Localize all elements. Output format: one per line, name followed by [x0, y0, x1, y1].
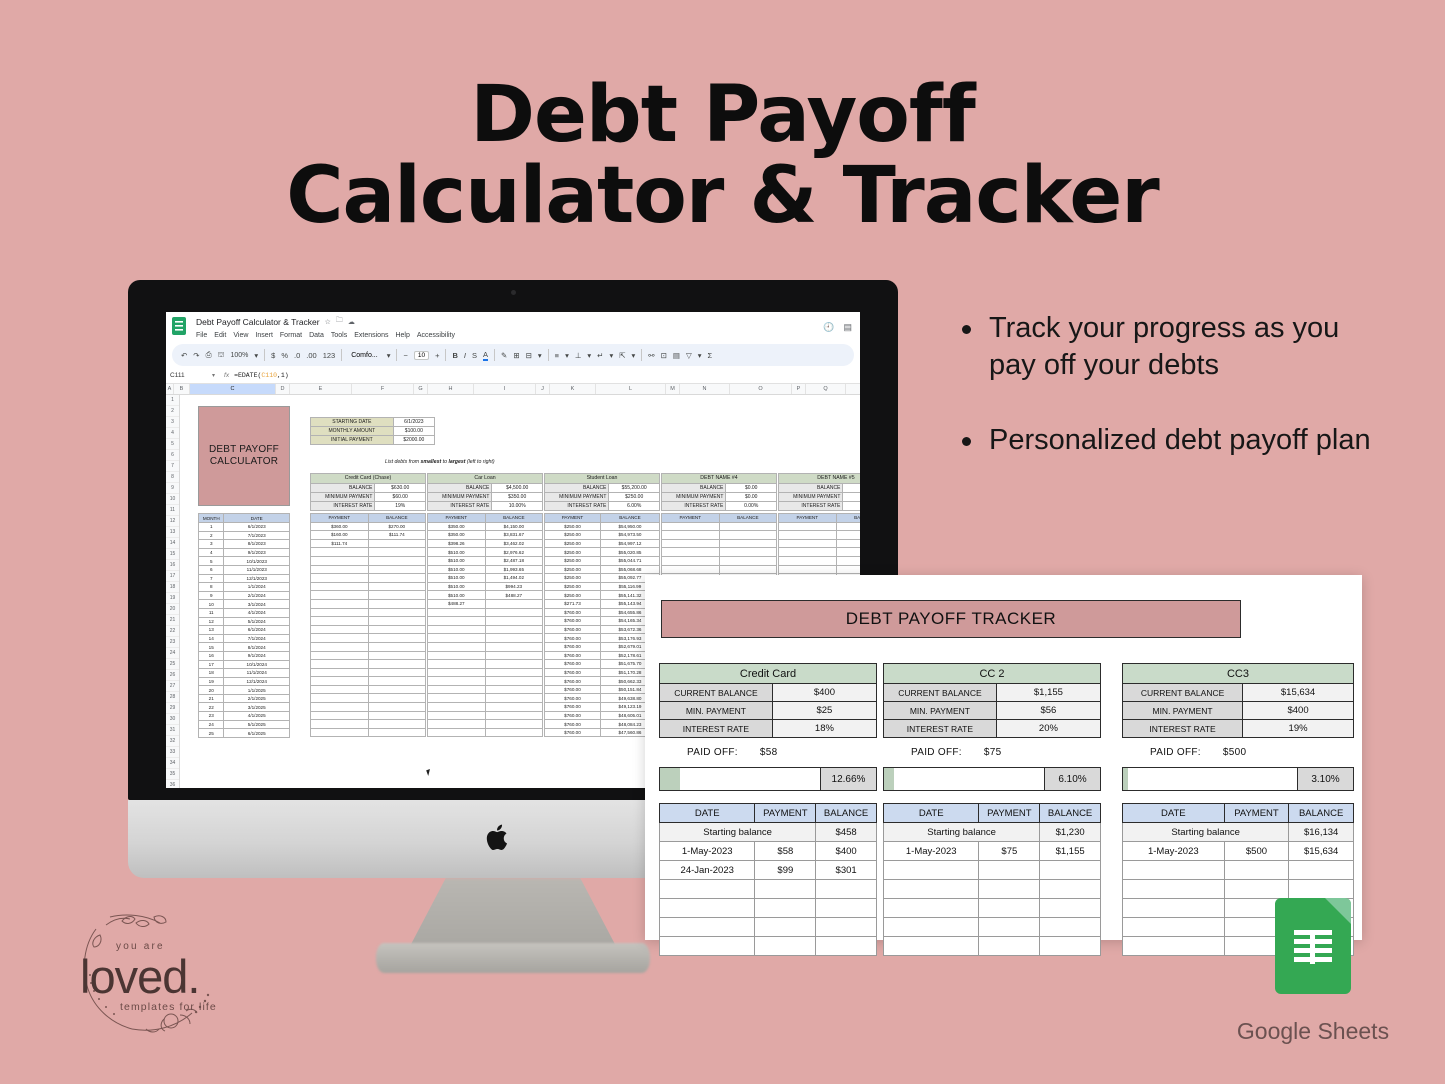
zoom-level[interactable]: 100% [231, 352, 249, 359]
month-number: 15 [199, 643, 224, 652]
comment-icon[interactable]: ▤ [843, 322, 852, 333]
row-header[interactable]: 11 [166, 505, 179, 516]
starting-balance-value[interactable]: $16,134 [1289, 823, 1354, 842]
history-date[interactable] [884, 861, 979, 880]
column-header-a[interactable]: A [166, 384, 174, 394]
column-header-i[interactable]: I [474, 384, 536, 394]
row-header[interactable]: 9 [166, 483, 179, 494]
history-payment[interactable] [1224, 861, 1289, 880]
chevron-down-icon[interactable]: ▾ [538, 351, 542, 360]
chevron-down-icon[interactable]: ▾ [698, 351, 702, 360]
debt-name[interactable]: Student Loan [545, 474, 660, 484]
payment-value: $250.00 [545, 582, 601, 591]
history-icon[interactable]: 🕘 [823, 322, 834, 333]
chevron-down-icon[interactable]: ▾ [632, 351, 636, 360]
history-balance[interactable] [816, 880, 877, 899]
debt-stat-value[interactable]: $4,500.00 [492, 483, 543, 492]
debt-name[interactable]: Credit Card (Chase) [311, 474, 426, 484]
percent-format-icon[interactable]: % [281, 351, 288, 360]
payment-row: $250.00$55,092.77 [545, 574, 660, 583]
debt-stat-value[interactable]: $60.00 [375, 492, 426, 501]
row-header[interactable]: 3 [166, 417, 179, 428]
debt-payment-table: PAYMENTBALANCE$360.00$270.00$160.00$111.… [310, 513, 426, 737]
toolbar-divider [548, 349, 549, 361]
column-header-r[interactable]: R [846, 384, 860, 394]
menu-extensions[interactable]: Extensions [354, 332, 388, 339]
star-icon[interactable]: ☆ [325, 318, 331, 326]
payment-row [428, 720, 543, 729]
row-header[interactable]: 13 [166, 527, 179, 538]
row-header[interactable]: 2 [166, 406, 179, 417]
row-header[interactable]: 26 [166, 670, 179, 681]
row-header[interactable]: 15 [166, 549, 179, 560]
row-header[interactable]: 8 [166, 472, 179, 483]
bullet-item: Personalized debt payoff plan [962, 422, 1382, 459]
paint-format-icon[interactable]: ⛫ [218, 350, 225, 360]
month-number: 23 [199, 712, 224, 721]
fill-color-icon[interactable]: ✎ [501, 351, 507, 360]
payment-row [428, 694, 543, 703]
payment-row: $250.00$55,141.32 [545, 591, 660, 600]
column-header-j[interactable]: J [536, 384, 550, 394]
balance-value [368, 668, 425, 677]
payment-value: $760.00 [545, 720, 601, 729]
payment-value: $760.00 [545, 617, 601, 626]
bold-icon[interactable]: B [452, 351, 457, 360]
debt-stat-value[interactable]: 19% [375, 501, 426, 510]
cloud-icon[interactable]: ☁ [348, 318, 355, 326]
history-payment[interactable] [979, 918, 1040, 937]
payment-value [662, 556, 720, 565]
history-date[interactable]: 1-May-2023 [884, 842, 979, 861]
debt-stat-row: INTEREST RATE0.00% [662, 501, 777, 510]
menu-format[interactable]: Format [280, 332, 302, 339]
payment-row [311, 591, 426, 600]
month-date: 9/1/2023 [224, 548, 290, 557]
history-date[interactable]: 1-May-2023 [1123, 842, 1225, 861]
row-header[interactable]: 19 [166, 593, 179, 604]
row-header[interactable]: 27 [166, 681, 179, 692]
history-date[interactable] [1123, 861, 1225, 880]
row-header[interactable]: 7 [166, 461, 179, 472]
row-header[interactable]: 32 [166, 736, 179, 747]
history-date[interactable] [1123, 918, 1225, 937]
month-number: 4 [199, 548, 224, 557]
column-header-k[interactable]: K [550, 384, 596, 394]
debt-name-row: Credit Card (Chase) [311, 474, 426, 484]
debt-stat-value[interactable]: 0.00% [726, 501, 777, 510]
payment-value: $250.00 [545, 574, 601, 583]
payment-row [311, 556, 426, 565]
row-header[interactable]: 25 [166, 659, 179, 670]
debt-stat-value[interactable]: $55,200.00 [609, 483, 660, 492]
menu-data[interactable]: Data [309, 332, 324, 339]
balance-value [368, 677, 425, 686]
formula-input[interactable]: =EDATE(C110,1) [234, 372, 289, 379]
payment-value: $760.00 [545, 608, 601, 617]
column-header-q[interactable]: Q [806, 384, 846, 394]
document-title[interactable]: Debt Payoff Calculator & Tracker [196, 317, 320, 327]
tracker-card-name-row: Credit Card [660, 664, 877, 684]
balance-value [368, 711, 425, 720]
chevron-down-icon[interactable]: ▾ [387, 351, 391, 360]
row-header[interactable]: 5 [166, 439, 179, 450]
merge-cells-icon[interactable]: ⊟ [526, 351, 532, 360]
settings-table: STARTING DATE6/1/2023MONTHLY AMOUNT$100.… [310, 417, 435, 445]
settings-value[interactable]: 6/1/2023 [393, 418, 434, 427]
history-balance[interactable] [1040, 937, 1101, 956]
payment-row [311, 685, 426, 694]
payment-table-header-cell: BALANCE [836, 514, 860, 523]
balance-value: $2,487.18 [485, 556, 542, 565]
history-date[interactable] [660, 937, 755, 956]
month-number: 11 [199, 608, 224, 617]
row-header[interactable]: 12 [166, 516, 179, 527]
payment-table-header-cell: PAYMENT [428, 514, 486, 523]
debt-stat-value[interactable] [843, 492, 860, 501]
payment-row [428, 711, 543, 720]
payment-row: $250.00$54,973.50 [545, 531, 660, 540]
text-wrap-icon[interactable]: ↵ [597, 351, 603, 360]
toolbar-divider [494, 349, 495, 361]
payment-row: $760.00$53,176.93 [545, 634, 660, 643]
bullet-text: Personalized debt payoff plan [989, 422, 1382, 459]
column-header-o[interactable]: O [730, 384, 792, 394]
decrease-decimal-icon[interactable]: .0 [294, 351, 300, 360]
tracker-card: CC 2CURRENT BALANCE$1,155MIN. PAYMENT$56… [883, 663, 1101, 738]
history-date[interactable] [884, 937, 979, 956]
functions-icon[interactable]: Σ [708, 351, 713, 360]
debt-stat-value[interactable]: 6.00% [609, 501, 660, 510]
debt-header-table: Car LoanBALANCE$4,500.00MINIMUM PAYMENT$… [427, 473, 543, 511]
row-header[interactable]: 34 [166, 758, 179, 769]
italic-icon[interactable]: I [464, 351, 466, 360]
debt-stat-value[interactable] [843, 483, 860, 492]
row-header[interactable]: 28 [166, 692, 179, 703]
history-balance[interactable]: $400 [816, 842, 877, 861]
font-family-selector[interactable]: Comfo... [348, 351, 380, 360]
column-header-b[interactable]: B [174, 384, 190, 394]
settings-value[interactable]: $100.00 [393, 427, 434, 436]
payment-value [428, 660, 486, 669]
payment-row: $111.74 [311, 539, 426, 548]
history-date[interactable]: 1-May-2023 [660, 842, 755, 861]
row-header[interactable]: 35 [166, 769, 179, 780]
debt-stat-value[interactable]: $630.00 [375, 483, 426, 492]
row-header[interactable]: 36 [166, 780, 179, 788]
history-header-payment: PAYMENT [755, 804, 816, 823]
debt-stat-value[interactable]: $350.00 [492, 492, 543, 501]
month-table-header-cell: DATE [224, 514, 290, 523]
history-header-row: DATEPAYMENTBALANCE [1123, 804, 1354, 823]
chevron-down-icon[interactable]: ▾ [587, 351, 591, 360]
payment-row [779, 522, 861, 531]
payment-row [428, 617, 543, 626]
history-payment[interactable] [979, 937, 1040, 956]
tracker-stat-value[interactable]: 20% [996, 720, 1100, 738]
payment-value: $510.00 [428, 565, 486, 574]
debt-name[interactable]: Car Loan [428, 474, 543, 484]
menu-file[interactable]: File [196, 332, 207, 339]
row-header[interactable]: 6 [166, 450, 179, 461]
debt-stat-label: MINIMUM PAYMENT [662, 492, 726, 501]
column-header-e[interactable]: E [290, 384, 352, 394]
history-payment[interactable] [979, 880, 1040, 899]
tracker-card-name[interactable]: CC 2 [884, 664, 1101, 684]
tracker-stat-value[interactable]: $56 [996, 702, 1100, 720]
column-header-l[interactable]: L [596, 384, 666, 394]
month-date: 4/1/2024 [224, 608, 290, 617]
payment-row [662, 556, 777, 565]
filter-icon[interactable]: ▽ [686, 351, 692, 360]
tracker-stat-value[interactable]: $1,155 [996, 684, 1100, 702]
history-payment[interactable] [755, 937, 816, 956]
column-header-h[interactable]: H [428, 384, 474, 394]
decrease-font-size-button[interactable]: − [403, 351, 407, 360]
horizontal-align-icon[interactable]: ≡ [555, 351, 559, 360]
tracker-stat-value[interactable]: $25 [772, 702, 876, 720]
history-row [1123, 880, 1354, 899]
row-header[interactable]: 24 [166, 648, 179, 659]
text-rotation-icon[interactable]: ⇱ [619, 351, 625, 360]
balance-value [368, 660, 425, 669]
bullet-dot-icon [962, 325, 971, 334]
menu-view[interactable]: View [233, 332, 248, 339]
history-balance[interactable] [816, 937, 877, 956]
history-row [660, 899, 877, 918]
menu-insert[interactable]: Insert [255, 332, 273, 339]
history-balance[interactable] [1289, 880, 1354, 899]
tracker-card-name[interactable]: Credit Card [660, 664, 877, 684]
history-balance[interactable] [1040, 918, 1101, 937]
balance-value: $55,044.71 [600, 556, 659, 565]
month-table-row: 223/1/2025 [199, 703, 290, 712]
history-date[interactable] [1123, 899, 1225, 918]
payment-row [311, 617, 426, 626]
month-date: 5/1/2024 [224, 617, 290, 626]
row-header[interactable]: 21 [166, 615, 179, 626]
month-number: 6 [199, 565, 224, 574]
insert-image-icon[interactable]: ⊡ [661, 351, 667, 360]
debt-stat-value[interactable]: 10.00% [492, 501, 543, 510]
move-folder-icon[interactable]: 🗀 [336, 316, 343, 327]
column-header-n[interactable]: N [680, 384, 730, 394]
history-date[interactable] [660, 880, 755, 899]
starting-balance-label: Starting balance [1123, 823, 1289, 842]
row-header[interactable]: 17 [166, 571, 179, 582]
payment-value: $510.00 [428, 582, 486, 591]
sheets-topbar: Debt Payoff Calculator & Tracker ☆ 🗀 ☁ F… [166, 312, 860, 342]
payment-row [662, 539, 777, 548]
history-date[interactable] [1123, 880, 1225, 899]
month-table-row: 114/1/2024 [199, 608, 290, 617]
month-date: 7/1/2024 [224, 634, 290, 643]
tracker-stat-value[interactable]: 18% [772, 720, 876, 738]
payment-table-header: PAYMENTBALANCE [428, 514, 543, 523]
print-icon[interactable]: ⎙ [206, 350, 212, 360]
history-date[interactable] [884, 918, 979, 937]
payment-value [311, 728, 369, 737]
history-date[interactable] [660, 918, 755, 937]
history-payment[interactable] [755, 918, 816, 937]
payment-value: $510.00 [428, 574, 486, 583]
tracker-stat-value[interactable]: $400 [1243, 702, 1354, 720]
increase-font-size-button[interactable]: + [435, 351, 439, 360]
starting-balance-value[interactable]: $1,230 [1040, 823, 1101, 842]
payment-value [779, 556, 837, 565]
debt-name[interactable]: DEBT NAME #4 [662, 474, 777, 484]
payment-row [428, 634, 543, 643]
more-formats-icon[interactable]: 123 [323, 351, 336, 360]
history-balance[interactable]: $301 [816, 861, 877, 880]
history-date[interactable] [884, 880, 979, 899]
row-header[interactable]: 29 [166, 703, 179, 714]
balance-value [368, 556, 425, 565]
history-balance[interactable]: $1,155 [1040, 842, 1101, 861]
column-header-c[interactable]: C [190, 384, 276, 394]
history-date[interactable] [660, 899, 755, 918]
column-header-p[interactable]: P [792, 384, 806, 394]
starting-balance-value[interactable]: $458 [816, 823, 877, 842]
payment-row [311, 677, 426, 686]
payment-row [311, 599, 426, 608]
row-header[interactable]: 31 [166, 725, 179, 736]
history-payment[interactable]: $99 [755, 861, 816, 880]
month-table-row: 245/1/2025 [199, 720, 290, 729]
chevron-down-icon[interactable]: ▾ [254, 351, 258, 360]
debt-stat-value[interactable] [843, 501, 860, 510]
row-header[interactable]: 10 [166, 494, 179, 505]
history-balance[interactable] [1040, 880, 1101, 899]
debt-header-table: Student LoanBALANCE$55,200.00MINIMUM PAY… [544, 473, 660, 511]
column-header-g[interactable]: G [414, 384, 428, 394]
history-payment[interactable]: $75 [979, 842, 1040, 861]
progress-fill [1123, 768, 1128, 790]
insert-link-icon[interactable]: ⚯ [648, 351, 654, 360]
payment-value [311, 565, 369, 574]
tracker-stat-value[interactable]: 19% [1243, 720, 1354, 738]
strikethrough-icon[interactable]: S [472, 351, 477, 360]
chevron-down-icon[interactable]: ▾ [212, 372, 215, 379]
cell-reference-input[interactable]: C111 [166, 372, 212, 379]
payment-value [779, 548, 837, 557]
balance-value [719, 556, 776, 565]
balance-value [485, 651, 542, 660]
settings-value[interactable]: $2000.00 [393, 436, 434, 445]
chevron-down-icon[interactable]: ▾ [609, 351, 613, 360]
increase-decimal-icon[interactable]: .00 [306, 351, 316, 360]
payment-value [311, 556, 369, 565]
text-color-icon[interactable]: A [483, 350, 488, 361]
row-header[interactable]: 30 [166, 714, 179, 725]
history-payment[interactable] [1224, 880, 1289, 899]
balance-value [836, 556, 860, 565]
row-header[interactable]: 23 [166, 637, 179, 648]
history-header-row: DATEPAYMENTBALANCE [660, 804, 877, 823]
debt-stat-value[interactable]: $0.00 [726, 492, 777, 501]
history-payment[interactable]: $500 [1224, 842, 1289, 861]
row-header[interactable]: 20 [166, 604, 179, 615]
tracker-card-name[interactable]: CC3 [1123, 664, 1354, 684]
history-payment[interactable] [755, 899, 816, 918]
history-date[interactable]: 24-Jan-2023 [660, 861, 755, 880]
month-number: 5 [199, 557, 224, 566]
row-header[interactable]: 1 [166, 395, 179, 406]
starting-balance-label: Starting balance [660, 823, 816, 842]
undo-icon[interactable]: ↶ [181, 351, 187, 360]
menu-help[interactable]: Help [395, 332, 409, 339]
menu-accessibility[interactable]: Accessibility [417, 332, 455, 339]
month-table-row: 712/1/2023 [199, 574, 290, 583]
month-number: 25 [199, 729, 224, 738]
month-number: 18 [199, 669, 224, 678]
balance-value [485, 617, 542, 626]
payment-value [428, 728, 486, 737]
history-balance[interactable]: $15,634 [1289, 842, 1354, 861]
history-balance[interactable] [816, 899, 877, 918]
payment-row [311, 728, 426, 737]
payment-row: $760.00$48,605.01 [545, 711, 660, 720]
progress-bar: 3.10% [1122, 767, 1354, 791]
row-header[interactable]: 33 [166, 747, 179, 758]
row-header[interactable]: 16 [166, 560, 179, 571]
history-payment[interactable] [755, 880, 816, 899]
row-header[interactable]: 4 [166, 428, 179, 439]
history-row [884, 937, 1101, 956]
history-payment[interactable] [979, 899, 1040, 918]
debt-stat-value[interactable]: $250.00 [609, 492, 660, 501]
column-header-m[interactable]: M [666, 384, 680, 394]
page-fold-icon [1325, 898, 1351, 924]
settings-label: MONTHLY AMOUNT [311, 427, 394, 436]
currency-format-icon[interactable]: $ [271, 351, 275, 360]
row-header[interactable]: 22 [166, 626, 179, 637]
font-size-input[interactable]: 10 [414, 351, 429, 360]
payment-row: $760.00$48,084.23 [545, 720, 660, 729]
row-header[interactable]: 14 [166, 538, 179, 549]
column-header-d[interactable]: D [276, 384, 290, 394]
history-header-balance: BALANCE [1040, 804, 1101, 823]
borders-icon[interactable]: ⊞ [513, 351, 519, 360]
chevron-down-icon[interactable]: ▾ [565, 351, 569, 360]
redo-icon[interactable]: ↷ [193, 351, 199, 360]
payment-row [428, 625, 543, 634]
history-payment[interactable] [979, 861, 1040, 880]
paid-off-value: $75 [984, 747, 1002, 758]
menu-tools[interactable]: Tools [331, 332, 347, 339]
column-header-f[interactable]: F [352, 384, 414, 394]
debt-stat-row: MINIMUM PAYMENT [779, 492, 861, 501]
debt-name[interactable]: DEBT NAME #5 [779, 474, 861, 484]
history-date[interactable] [884, 899, 979, 918]
balance-value [368, 617, 425, 626]
row-header[interactable]: 18 [166, 582, 179, 593]
history-date[interactable] [1123, 937, 1225, 956]
insert-chart-icon[interactable]: ▤ [673, 351, 680, 360]
history-balance[interactable] [1289, 861, 1354, 880]
history-payment[interactable]: $58 [755, 842, 816, 861]
debt-stat-value[interactable]: $0.00 [726, 483, 777, 492]
balance-value [485, 599, 542, 608]
history-balance[interactable] [816, 918, 877, 937]
tracker-stat-value[interactable]: $15,634 [1243, 684, 1354, 702]
history-balance[interactable] [1040, 861, 1101, 880]
menu-edit[interactable]: Edit [214, 332, 226, 339]
vertical-align-icon[interactable]: ⊥ [575, 351, 582, 360]
apple-logo-icon [486, 822, 512, 853]
history-balance[interactable] [1040, 899, 1101, 918]
tracker-stat-value[interactable]: $400 [772, 684, 876, 702]
